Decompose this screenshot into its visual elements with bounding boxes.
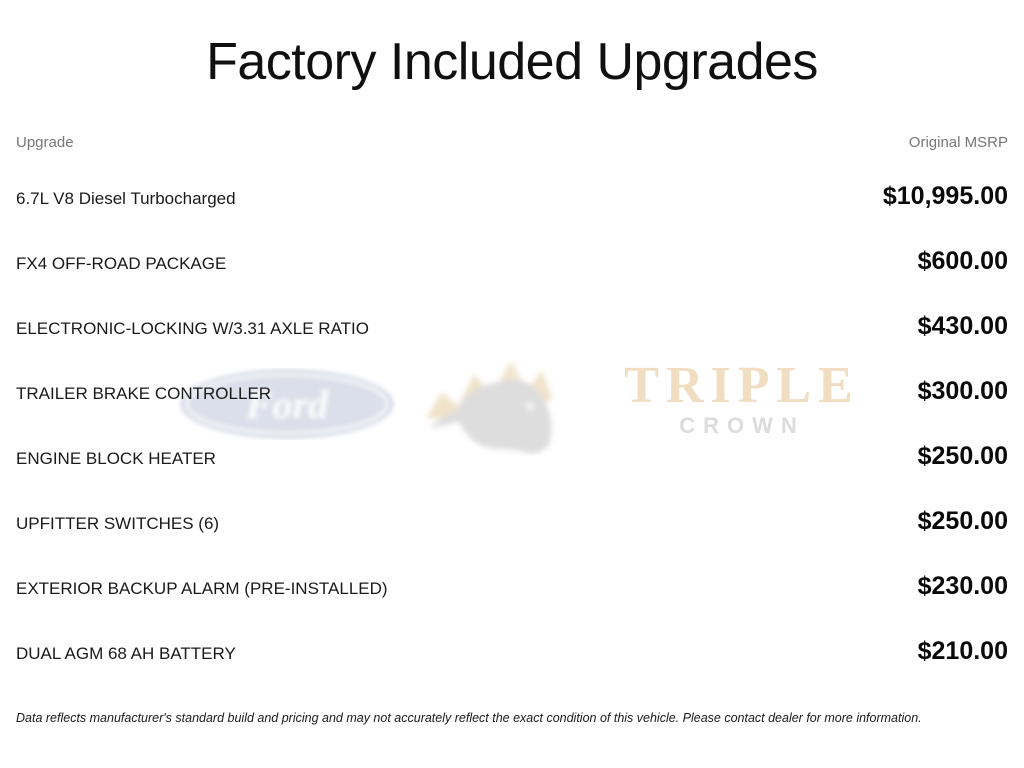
upgrade-label: ENGINE BLOCK HEATER bbox=[16, 449, 216, 469]
upgrade-label: EXTERIOR BACKUP ALARM (PRE-INSTALLED) bbox=[16, 579, 388, 599]
table-row: FX4 OFF-ROAD PACKAGE $600.00 bbox=[16, 247, 1008, 312]
upgrade-label: 6.7L V8 Diesel Turbocharged bbox=[16, 189, 236, 209]
upgrade-label: ELECTRONIC-LOCKING W/3.31 AXLE RATIO bbox=[16, 319, 369, 339]
table-row: DUAL AGM 68 AH BATTERY $210.00 bbox=[16, 637, 1008, 702]
upgrade-label: DUAL AGM 68 AH BATTERY bbox=[16, 644, 236, 664]
upgrade-price: $210.00 bbox=[918, 637, 1008, 666]
upgrades-table: Upgrade Original MSRP 6.7L V8 Diesel Tur… bbox=[16, 134, 1008, 702]
table-row: TRAILER BRAKE CONTROLLER $300.00 bbox=[16, 377, 1008, 442]
table-row: UPFITTER SWITCHES (6) $250.00 bbox=[16, 507, 1008, 572]
page-title: Factory Included Upgrades bbox=[16, 0, 1008, 90]
upgrade-price: $600.00 bbox=[918, 247, 1008, 276]
header-original-msrp: Original MSRP bbox=[909, 134, 1008, 151]
upgrades-page: Ford TRIPLE CROWN Factory Included Upgra… bbox=[0, 0, 1024, 768]
table-row: 6.7L V8 Diesel Turbocharged $10,995.00 bbox=[16, 182, 1008, 247]
upgrade-label: FX4 OFF-ROAD PACKAGE bbox=[16, 254, 226, 274]
upgrade-price: $430.00 bbox=[918, 312, 1008, 341]
header-upgrade: Upgrade bbox=[16, 134, 74, 151]
disclaimer-text: Data reflects manufacturer's standard bu… bbox=[16, 710, 1008, 726]
upgrade-price: $230.00 bbox=[918, 572, 1008, 601]
upgrade-price: $300.00 bbox=[918, 377, 1008, 406]
table-header-row: Upgrade Original MSRP bbox=[16, 134, 1008, 182]
upgrade-price: $10,995.00 bbox=[883, 182, 1008, 211]
upgrade-price: $250.00 bbox=[918, 507, 1008, 536]
content-area: Factory Included Upgrades Upgrade Origin… bbox=[16, 0, 1008, 702]
upgrade-price: $250.00 bbox=[918, 442, 1008, 471]
table-row: EXTERIOR BACKUP ALARM (PRE-INSTALLED) $2… bbox=[16, 572, 1008, 637]
upgrade-label: UPFITTER SWITCHES (6) bbox=[16, 514, 219, 534]
upgrade-label: TRAILER BRAKE CONTROLLER bbox=[16, 384, 271, 404]
table-row: ELECTRONIC-LOCKING W/3.31 AXLE RATIO $43… bbox=[16, 312, 1008, 377]
table-row: ENGINE BLOCK HEATER $250.00 bbox=[16, 442, 1008, 507]
